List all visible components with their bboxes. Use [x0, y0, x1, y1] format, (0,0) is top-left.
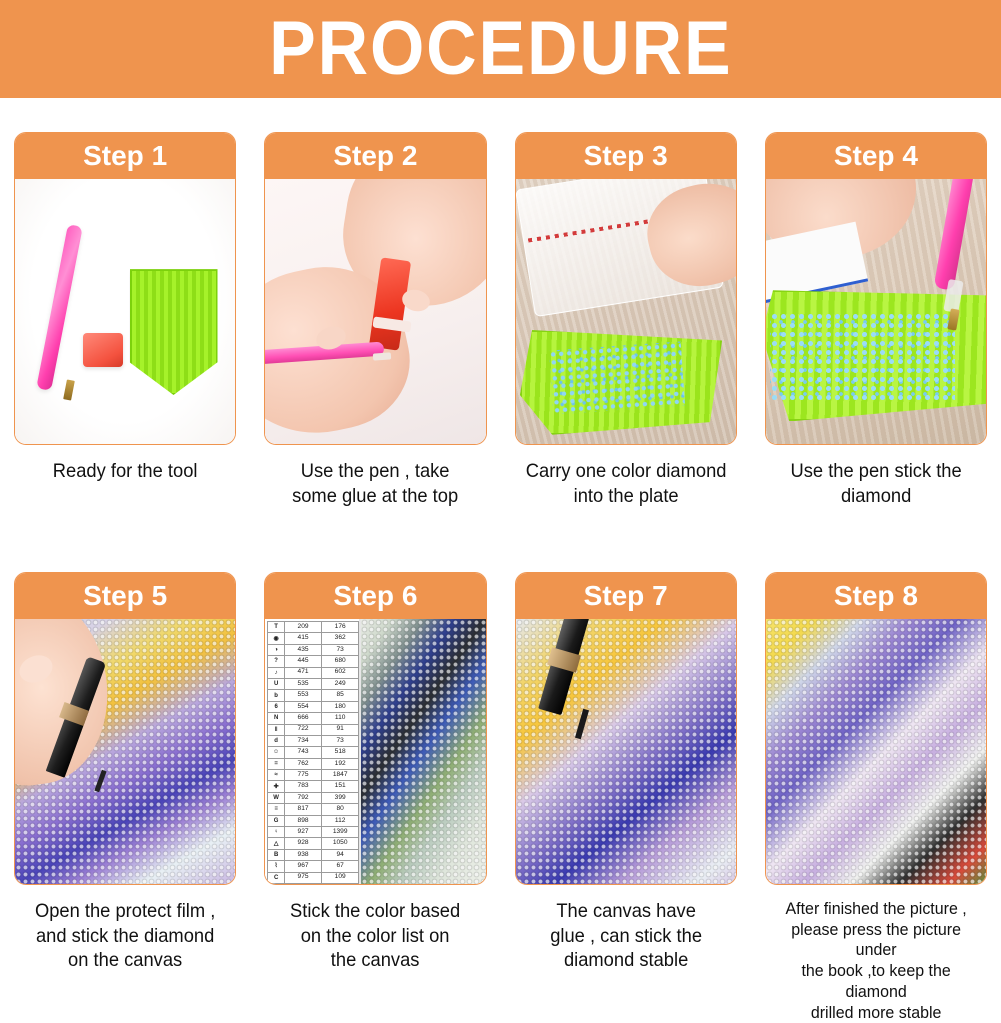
color-chart-row: b55385 [268, 690, 359, 701]
diamond-beads-icon [549, 341, 685, 414]
mosaic-canvas [361, 619, 485, 884]
color-chart-symbol: = [268, 758, 285, 769]
step-header-4: Step 4 [766, 133, 986, 179]
color-chart-symbol: ‖ [268, 724, 285, 735]
color-chart-count: 680 [322, 656, 359, 667]
color-chart-pane: T209176◉415362◑43573?445680♪471602U53524… [265, 619, 361, 884]
step-cell-7: Step 7 The canvas have glue , can stick … [501, 572, 751, 1023]
color-chart-symbol: G [268, 815, 285, 826]
color-chart-code: 471 [285, 667, 322, 678]
color-chart-code: 938 [285, 849, 322, 860]
color-chart-symbol: U [268, 678, 285, 689]
partial-canvas-pane [361, 619, 485, 884]
color-chart-row: T209176 [268, 622, 359, 633]
color-chart-row: B93894 [268, 849, 359, 860]
pour-beads-photo [516, 179, 736, 444]
color-chart-row: N666110 [268, 713, 359, 724]
color-chart-row: ◑43573 [268, 644, 359, 655]
color-chart-symbol: ⌇ [268, 861, 285, 872]
step-photo-6: T209176◉415362◑43573?445680♪471602U53524… [265, 619, 485, 884]
color-chart-count: 1399 [322, 827, 359, 838]
color-chart-count: 1050 [322, 838, 359, 849]
color-chart-row: =762192 [268, 758, 359, 769]
color-chart-row: ✚783151 [268, 781, 359, 792]
color-chart-code: 3013 [285, 883, 322, 884]
mosaic-canvas [766, 619, 986, 884]
color-chart-symbol: ☺ [268, 747, 285, 758]
color-chart-symbol: ◉ [268, 633, 285, 644]
color-chart-row: C975109 [268, 872, 359, 883]
step-caption-4: Use the pen stick the diamond [771, 459, 980, 508]
color-chart-row: ‖72291 [268, 724, 359, 735]
color-chart-symbol: 6 [268, 701, 285, 712]
step-header-label-4: Step 4 [834, 142, 918, 170]
step-cell-4: Step 4 Use the pen stick the diamo [751, 132, 1001, 508]
color-chart-count: 73 [322, 644, 359, 655]
pickup-bead-photo [766, 179, 986, 444]
color-chart-code: 783 [285, 781, 322, 792]
color-chart-symbol: ✚ [268, 781, 285, 792]
color-chart-code: 554 [285, 701, 322, 712]
color-chart-count: 94 [322, 849, 359, 860]
glue-wax-icon [83, 333, 123, 367]
color-chart-row: Y3013526 [268, 883, 359, 884]
finished-painting-photo [766, 619, 986, 884]
color-chart-symbol: ≈ [268, 770, 285, 781]
step-cell-8: Step 8 After finished the picture , plea… [751, 572, 1001, 1023]
color-chart-count: 1847 [322, 770, 359, 781]
step-cell-5: Step 5 Open the protect film , and stick… [0, 572, 250, 1023]
place-diamond-photo [15, 619, 235, 884]
step-card-8: Step 8 [765, 572, 987, 885]
step-header-label-2: Step 2 [333, 142, 417, 170]
color-chart-symbol: T [268, 622, 285, 633]
tools-photo [15, 179, 235, 444]
color-chart-symbol: ◑ [268, 644, 285, 655]
step-card-6: Step 6 T209176◉415362◑43573?445680♪47160… [264, 572, 486, 885]
color-chart-count: 518 [322, 747, 359, 758]
color-chart-row: 6554180 [268, 701, 359, 712]
step-caption-6: Stick the color based on the color list … [271, 899, 480, 973]
color-chart-code: 775 [285, 770, 322, 781]
step-header-8: Step 8 [766, 573, 986, 619]
color-chart-row: ♀9271399 [268, 827, 359, 838]
color-chart-code: 209 [285, 622, 322, 633]
steps-row-2: Step 5 Open the protect film , and stick… [0, 572, 1001, 1023]
color-chart-code: 927 [285, 827, 322, 838]
step-caption-3: Carry one color diamond into the plate [521, 459, 730, 508]
color-chart-code: 898 [285, 815, 322, 826]
color-chart-code: 967 [285, 861, 322, 872]
color-chart-code: 553 [285, 690, 322, 701]
step-header-3: Step 3 [516, 133, 736, 179]
color-chart-count: 109 [322, 872, 359, 883]
diamond-tray-icon [130, 269, 218, 395]
procedure-infographic: PROCEDURE Step 1 Ready for the tool [0, 0, 1001, 1001]
step-photo-1 [15, 179, 235, 444]
color-chart-code: 535 [285, 678, 322, 689]
page-banner: PROCEDURE [0, 0, 1001, 98]
color-chart-count: 526 [322, 883, 359, 884]
color-chart-count: 151 [322, 781, 359, 792]
color-chart-code: 666 [285, 713, 322, 724]
step-photo-3 [516, 179, 736, 444]
color-chart-table: T209176◉415362◑43573?445680♪471602U53524… [267, 621, 359, 884]
color-chart-symbol: Y [268, 883, 285, 884]
color-chart-code: 722 [285, 724, 322, 735]
color-chart-row: ?445680 [268, 656, 359, 667]
color-chart-count: 192 [322, 758, 359, 769]
color-chart-code: 975 [285, 872, 322, 883]
drill-pen-icon [37, 224, 84, 391]
color-chart-count: 80 [322, 804, 359, 815]
step-header-1: Step 1 [15, 133, 235, 179]
color-chart-count: 399 [322, 792, 359, 803]
color-chart-code: 928 [285, 838, 322, 849]
color-chart-count: 91 [322, 724, 359, 735]
color-chart-photo: T209176◉415362◑43573?445680♪471602U53524… [265, 619, 485, 884]
step-header-label-1: Step 1 [83, 142, 167, 170]
step-card-7: Step 7 [515, 572, 737, 885]
color-chart-row: ♪471602 [268, 667, 359, 678]
color-chart-count: 180 [322, 701, 359, 712]
step-photo-2 [265, 179, 485, 444]
color-chart-symbol: ♀ [268, 827, 285, 838]
color-chart-code: 792 [285, 792, 322, 803]
color-chart-count: 85 [322, 690, 359, 701]
color-chart-row: ≡81780 [268, 804, 359, 815]
step-photo-5 [15, 619, 235, 884]
pen-tip-icon [63, 380, 75, 401]
step-photo-4 [766, 179, 986, 444]
color-chart-symbol: ≡ [268, 804, 285, 815]
step-cell-1: Step 1 Ready for the tool [0, 132, 250, 508]
color-chart-symbol: C [268, 872, 285, 883]
color-chart-symbol: ♪ [268, 667, 285, 678]
color-chart-body: T209176◉415362◑43573?445680♪471602U53524… [268, 622, 359, 885]
color-chart-symbol: W [268, 792, 285, 803]
color-chart-code: 435 [285, 644, 322, 655]
color-chart-row: ☺743518 [268, 747, 359, 758]
step-header-7: Step 7 [516, 573, 736, 619]
color-chart-row: W792399 [268, 792, 359, 803]
color-chart-row: ◉415362 [268, 633, 359, 644]
color-chart-code: 743 [285, 747, 322, 758]
color-chart-row: G898112 [268, 815, 359, 826]
step-card-5: Step 5 [14, 572, 236, 885]
color-chart-count: 602 [322, 667, 359, 678]
color-chart-symbol: △ [268, 838, 285, 849]
color-chart-code: 734 [285, 735, 322, 746]
diamond-beads-icon [770, 312, 955, 402]
color-chart-code: 445 [285, 656, 322, 667]
step-card-3: Step 3 [515, 132, 737, 445]
step-header-label-3: Step 3 [584, 142, 668, 170]
step-header-5: Step 5 [15, 573, 235, 619]
step-caption-1: Ready for the tool [21, 459, 230, 484]
color-chart-count: 110 [322, 713, 359, 724]
step-cell-2: Step 2 Use the pen , take some glu [250, 132, 500, 508]
step-header-label-5: Step 5 [83, 582, 167, 610]
color-chart-count: 249 [322, 678, 359, 689]
color-chart-row: U535249 [268, 678, 359, 689]
step-cell-6: Step 6 T209176◉415362◑43573?445680♪47160… [250, 572, 500, 1023]
color-chart-symbol: b [268, 690, 285, 701]
color-chart-row: ≈7751847 [268, 770, 359, 781]
color-chart-count: 73 [322, 735, 359, 746]
color-chart-code: 415 [285, 633, 322, 644]
color-chart-count: 67 [322, 861, 359, 872]
color-chart-symbol: ? [268, 656, 285, 667]
step-card-4: Step 4 [765, 132, 987, 445]
step-photo-8 [766, 619, 986, 884]
step-header-label-6: Step 6 [333, 582, 417, 610]
page-title: PROCEDURE [269, 11, 732, 87]
step-header-label-8: Step 8 [834, 582, 918, 610]
step-card-2: Step 2 [264, 132, 486, 445]
step-header-label-7: Step 7 [584, 582, 668, 610]
color-chart-code: 762 [285, 758, 322, 769]
color-chart-code: 817 [285, 804, 322, 815]
steps-row-1: Step 1 Ready for the tool Step 2 [0, 132, 1001, 508]
step-caption-7: The canvas have glue , can stick the dia… [521, 899, 730, 973]
color-chart-symbol: N [268, 713, 285, 724]
step-caption-8: After finished the picture , please pres… [771, 899, 980, 1023]
step-photo-7 [516, 619, 736, 884]
glue-dip-photo [265, 179, 485, 444]
press-diamond-photo [516, 619, 736, 884]
step-header-6: Step 6 [265, 573, 485, 619]
step-header-2: Step 2 [265, 133, 485, 179]
step-caption-2: Use the pen , take some glue at the top [271, 459, 480, 508]
color-chart-symbol: B [268, 849, 285, 860]
pen-tip-icon [373, 352, 391, 360]
color-chart-count: 362 [322, 633, 359, 644]
color-chart-count: 112 [322, 815, 359, 826]
color-chart-row: △9281050 [268, 838, 359, 849]
step-caption-5: Open the protect film , and stick the di… [21, 899, 230, 973]
color-chart-symbol: d [268, 735, 285, 746]
step-cell-3: Step 3 Carry one color diamond into the … [501, 132, 751, 508]
color-chart-count: 176 [322, 622, 359, 633]
color-chart-row: d73473 [268, 735, 359, 746]
step-card-1: Step 1 [14, 132, 236, 445]
color-chart-row: ⌇96767 [268, 861, 359, 872]
